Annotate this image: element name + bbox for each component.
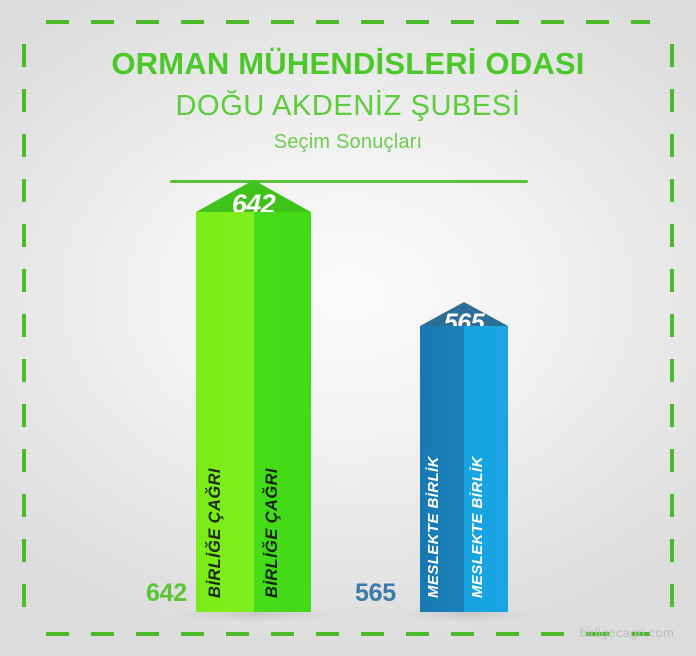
bar-faces-blue: MESLEKTE BİRLİK MESLEKTE BİRLİK xyxy=(420,326,508,612)
bar-face-right-green: BİRLİĞE ÇAĞRI xyxy=(254,212,312,612)
bar-face-left-blue: MESLEKTE BİRLİK xyxy=(420,326,464,612)
bar-face-right-blue: MESLEKTE BİRLİK xyxy=(464,326,508,612)
bar-base-value-blue: 565 xyxy=(355,579,396,608)
bar-label-right-green: BİRLİĞE ÇAĞRI xyxy=(263,468,282,598)
bar-label-left-green: BİRLİĞE ÇAĞRI xyxy=(206,468,225,598)
bar-label-right-blue: MESLEKTE BİRLİK xyxy=(469,456,486,598)
bar-label-left-blue: MESLEKTE BİRLİK xyxy=(425,456,442,598)
bar-faces-green: BİRLİĞE ÇAĞRI BİRLİĞE ÇAĞRI xyxy=(196,212,311,612)
bar-base-value-green: 642 xyxy=(146,579,187,608)
poster-canvas: ORMAN MÜHENDİSLERİ ODASI DOĞU AKDENİZ ŞU… xyxy=(0,0,696,656)
bar-chart: 642 BİRLİĞE ÇAĞRI BİRLİĞE ÇAĞRI 642 565 xyxy=(0,0,696,656)
site-watermark: birligecagri.com xyxy=(580,625,674,640)
bar-meslekte-birlik[interactable]: 565 MESLEKTE BİRLİK MESLEKTE BİRLİK xyxy=(420,326,508,612)
bar-face-left-green: BİRLİĞE ÇAĞRI xyxy=(196,212,254,612)
bar-birlige-cagri[interactable]: 642 BİRLİĞE ÇAĞRI BİRLİĞE ÇAĞRI xyxy=(196,212,311,612)
